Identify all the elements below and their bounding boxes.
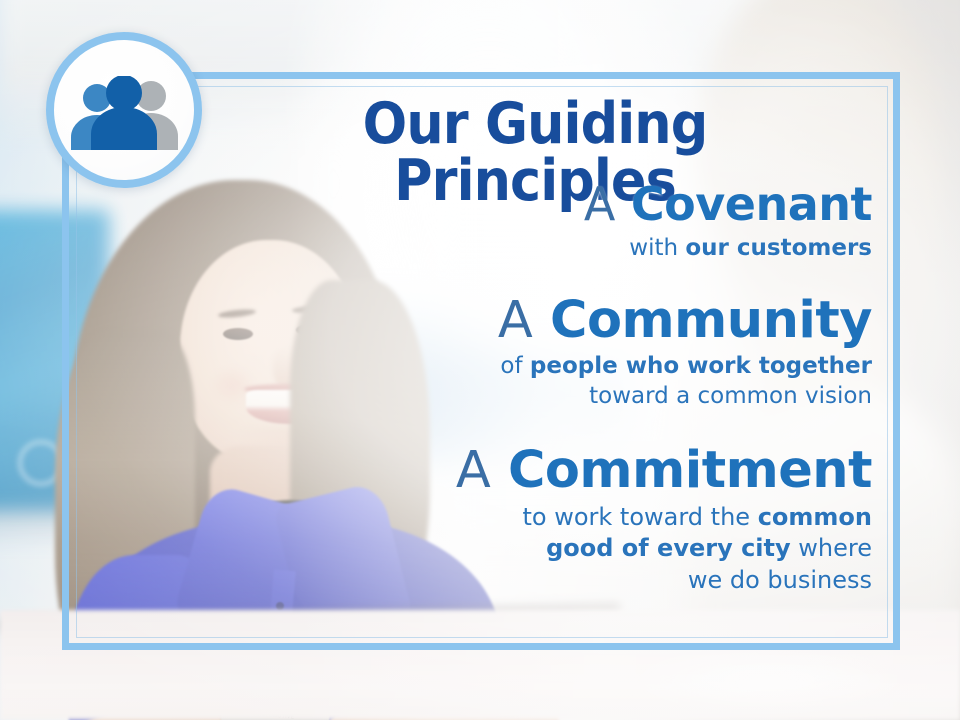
principle-keyword: Commitment: [508, 441, 872, 500]
principle-heading: A Commitment: [300, 443, 872, 498]
polo-button-top: [276, 602, 284, 610]
principle-subtext: of people who work togethertoward a comm…: [300, 352, 872, 411]
principle-subtext: to work toward the commongood of every c…: [300, 502, 872, 596]
principle-covenant: A Covenant with our customers: [300, 180, 872, 263]
principle-article: A: [498, 291, 534, 350]
principle-heading: A Covenant: [300, 180, 872, 230]
principle-community: A Community of people who work togethert…: [300, 293, 872, 411]
guiding-principles-graphic: FLOW AUTOMOTIVE FLOW: [0, 0, 960, 720]
principle-keyword: Community: [550, 291, 872, 350]
principle-keyword: Covenant: [631, 177, 872, 231]
people-group-badge: [46, 32, 202, 188]
principle-article: A: [584, 177, 616, 231]
principles-list: A Covenant with our customers A Communit…: [300, 180, 872, 602]
principle-subtext: with our customers: [300, 234, 872, 263]
desk-highlight: [620, 650, 920, 710]
employee-eye-left: [223, 328, 253, 340]
people-group-icon: [69, 76, 179, 150]
principle-article: A: [456, 441, 492, 500]
principle-heading: A Community: [300, 293, 872, 348]
principle-commitment: A Commitment to work toward the commongo…: [300, 443, 872, 596]
